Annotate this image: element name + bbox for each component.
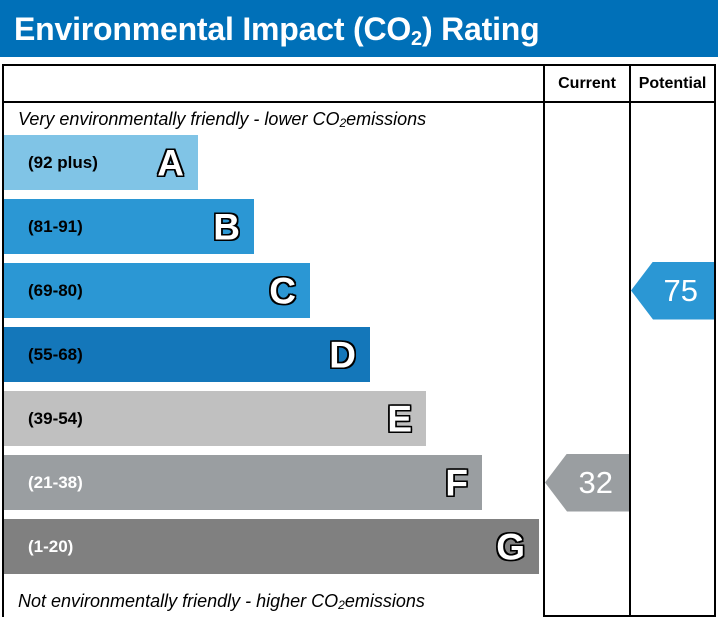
band-range-g: (1-20) bbox=[4, 537, 73, 557]
rating-value-potential: 75 bbox=[664, 275, 714, 306]
band-row-g: (1-20)G bbox=[4, 519, 539, 574]
column-header-potential: Potential bbox=[631, 66, 714, 101]
rating-arrow-current: 32 bbox=[545, 454, 629, 512]
band-letter-a: A bbox=[157, 144, 184, 181]
band-range-f: (21-38) bbox=[4, 473, 83, 493]
band-letter-d: D bbox=[329, 336, 356, 373]
title-suffix: ) Rating bbox=[422, 11, 540, 47]
rating-table: Current Potential Very environmentally f… bbox=[2, 64, 716, 617]
band-row-d: (55-68)D bbox=[4, 327, 370, 382]
caption-top-prefix: Very environmentally friendly - lower CO bbox=[18, 109, 339, 130]
band-list: (92 plus)A(81-91)B(69-80)C(55-68)D(39-54… bbox=[4, 135, 543, 585]
chart-title-bar: Environmental Impact (CO2) Rating bbox=[0, 0, 718, 57]
band-letter-c: C bbox=[269, 272, 296, 309]
bands-pane: Very environmentally friendly - lower CO… bbox=[4, 103, 543, 617]
band-row-a: (92 plus)A bbox=[4, 135, 198, 190]
band-row-c: (69-80)C bbox=[4, 263, 310, 318]
rating-value-current: 32 bbox=[579, 467, 629, 498]
band-letter-g: G bbox=[496, 528, 525, 565]
column-header-current: Current bbox=[545, 66, 629, 101]
title-subscript: 2 bbox=[411, 28, 422, 50]
column-divider-potential bbox=[629, 66, 631, 615]
band-letter-e: E bbox=[387, 400, 412, 437]
epc-environmental-impact-chart: Environmental Impact (CO2) Rating Curren… bbox=[0, 0, 718, 619]
rating-arrow-potential: 75 bbox=[631, 262, 714, 320]
column-divider-current bbox=[543, 66, 545, 615]
band-row-f: (21-38)F bbox=[4, 455, 482, 510]
band-letter-b: B bbox=[213, 208, 240, 245]
page-title: Environmental Impact (CO2) Rating bbox=[0, 13, 539, 45]
caption-top-subscript: 2 bbox=[339, 116, 346, 130]
band-row-b: (81-91)B bbox=[4, 199, 254, 254]
caption-bottom-subscript: 2 bbox=[338, 598, 345, 612]
caption-bottom-suffix: emissions bbox=[345, 591, 425, 612]
caption-top: Very environmentally friendly - lower CO… bbox=[4, 103, 543, 135]
band-letter-f: F bbox=[445, 464, 468, 501]
caption-top-suffix: emissions bbox=[346, 109, 426, 130]
band-range-e: (39-54) bbox=[4, 409, 83, 429]
band-range-c: (69-80) bbox=[4, 281, 83, 301]
band-range-a: (92 plus) bbox=[4, 153, 98, 173]
band-range-b: (81-91) bbox=[4, 217, 83, 237]
caption-bottom-prefix: Not environmentally friendly - higher CO bbox=[18, 591, 338, 612]
caption-bottom: Not environmentally friendly - higher CO… bbox=[4, 585, 543, 617]
band-range-d: (55-68) bbox=[4, 345, 83, 365]
title-prefix: Environmental Impact (CO bbox=[14, 11, 411, 47]
band-row-e: (39-54)E bbox=[4, 391, 426, 446]
